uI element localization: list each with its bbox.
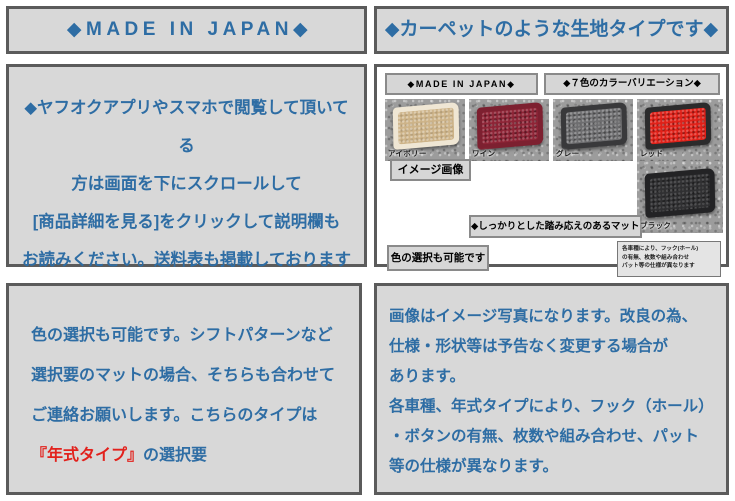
app-notice-line-1: ◆ヤフオクアプリやスマホで閲覧して頂いてる — [19, 89, 354, 165]
color-selection-line-4-rest: の選択要 — [143, 447, 207, 464]
swatch-wine: ワイン — [469, 99, 549, 161]
swatch-red: レッド — [637, 99, 723, 161]
disclaimer-line-2: 仕様・形状等は予告なく変更する場合が — [389, 332, 726, 362]
color-selection-line-3: ご連絡お願いします。こちらのタイプは — [31, 396, 359, 436]
app-notice-body: ◆ヤフオクアプリやスマホで閲覧して頂いてる 方は画面を下にスクロールして [商品… — [9, 67, 364, 317]
mat-face-ivory — [398, 108, 454, 145]
banner-made-in-japan-text: ◆MADE IN JAPAN◆ — [9, 9, 364, 51]
mat-ivory — [393, 102, 459, 150]
tag-firm-mat: ◆しっかりとした踏み応えのあるマット ◆ — [469, 215, 642, 238]
disclaimer-line-5: ・ボタンの有無、枚数や組み合わせ、パット — [389, 422, 726, 452]
color-selection-line-1: 色の選択も可能です。シフトパターンなど — [31, 316, 359, 356]
color-selection-body: 色の選択も可能です。シフトパターンなど 選択要のマットの場合、そちらも合わせて … — [9, 286, 359, 476]
disclaimer-line-4: 各車種、年式タイプにより、フック（ホール） — [389, 392, 726, 422]
swatch-label-wine: ワイン — [472, 148, 495, 159]
mat-face-gray — [566, 108, 622, 145]
color-selection-line-4: 『年式タイプ』の選択要 — [31, 436, 359, 476]
banner-carpet-type-text: ◆カーペットのような生地タイプです◆ — [377, 9, 726, 51]
tag-image-photo: イメージ画像 — [390, 159, 471, 181]
tag-spec-note-line-3: パット等の仕様が異なります — [622, 262, 716, 271]
panel-color-selection: 色の選択も可能です。シフトパターンなど 選択要のマットの場合、そちらも合わせて … — [6, 283, 362, 495]
swatch-label-red: レッド — [640, 148, 663, 159]
app-notice-line-3: [商品詳細を見る]をクリックして説明欄も — [19, 203, 354, 241]
swatch-label-black: ブラック — [640, 220, 671, 231]
product-image-collage: ◆MADE IN JAPAN◆ ◆７色のカラーバリエーション◆ アイボリー ワイ… — [377, 67, 726, 264]
disclaimer-line-1: 画像はイメージ写真になります。改良の為、 — [389, 302, 726, 332]
banner-made-in-japan: ◆MADE IN JAPAN◆ — [6, 6, 367, 54]
mat-face-black — [650, 173, 710, 212]
disclaimer-line-3: あります。 — [389, 362, 726, 392]
tag-spec-note-line-2: の有無、枚数や組み合わせ — [622, 254, 716, 263]
disclaimer-body: 画像はイメージ写真になります。改良の為、 仕様・形状等は予告なく変更する場合が … — [377, 286, 726, 482]
mat-black — [645, 168, 716, 218]
panel-product-image: ◆MADE IN JAPAN◆ ◆７色のカラーバリエーション◆ アイボリー ワイ… — [374, 64, 729, 267]
disclaimer-line-6: 等の仕様が異なります。 — [389, 452, 726, 482]
color-selection-line-2: 選択要のマットの場合、そちらも合わせて — [31, 356, 359, 396]
swatch-label-ivory: アイボリー — [388, 148, 427, 159]
banner-carpet-type: ◆カーペットのような生地タイプです◆ — [374, 6, 729, 54]
mat-red — [645, 102, 711, 150]
panel-app-notice: ◆ヤフオクアプリやスマホで閲覧して頂いてる 方は画面を下にスクロールして [商品… — [6, 64, 367, 267]
color-selection-year-type-emphasis: 『年式タイプ』 — [31, 447, 143, 464]
swatch-gray: グレー — [553, 99, 633, 161]
tag-made-in-japan: ◆MADE IN JAPAN◆ — [385, 73, 538, 95]
tag-spec-note-line-1: 各車種により、フック(ホール) — [622, 245, 716, 254]
swatch-ivory: アイボリー — [385, 99, 465, 161]
tag-color-selectable: 色の選択も可能です — [387, 245, 489, 271]
mat-face-wine — [482, 108, 538, 145]
swatch-label-gray: グレー — [556, 148, 579, 159]
mat-face-red — [650, 108, 706, 145]
mat-wine — [477, 102, 543, 150]
tag-color-variation: ◆７色のカラーバリエーション◆ — [544, 73, 720, 95]
swatch-black: ブラック — [637, 161, 723, 233]
mat-gray — [561, 102, 627, 150]
tag-spec-note: 各車種により、フック(ホール) の有無、枚数や組み合わせ パット等の仕様が異なり… — [617, 241, 721, 277]
app-notice-line-2: 方は画面を下にスクロールして — [19, 165, 354, 203]
panel-disclaimer: 画像はイメージ写真になります。改良の為、 仕様・形状等は予告なく変更する場合が … — [374, 283, 729, 495]
